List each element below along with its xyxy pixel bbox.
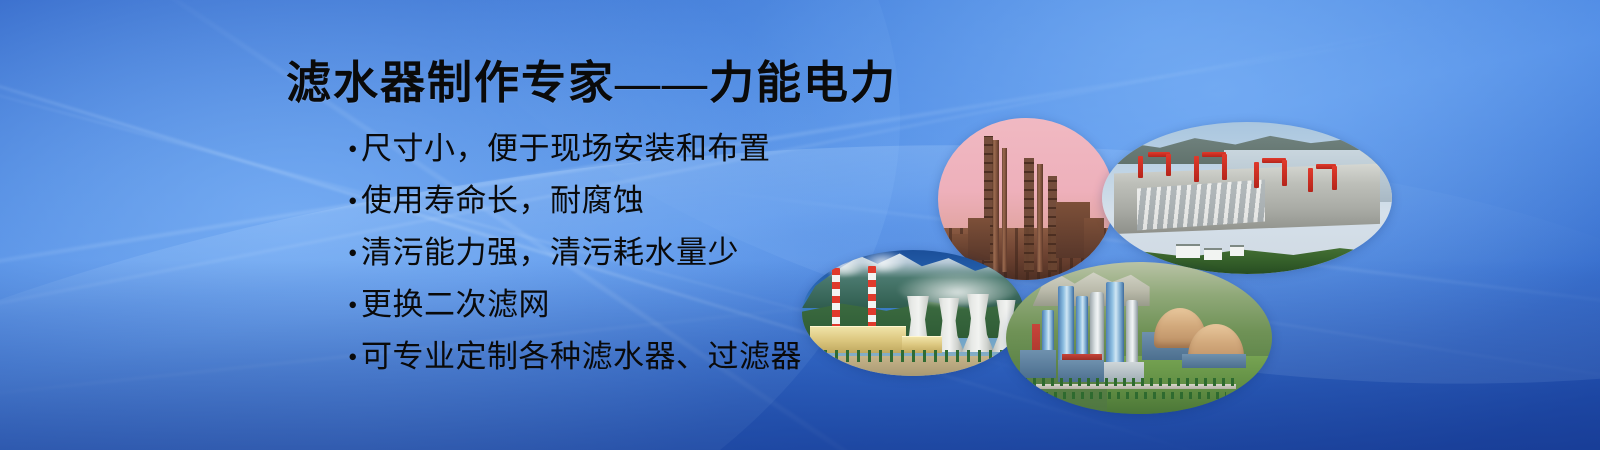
bullet-dot-icon: •	[348, 134, 361, 164]
dam-crane	[1282, 160, 1287, 186]
list-item-label: 可专业定制各种滤水器、过滤器	[361, 342, 802, 372]
cement-plant-scene	[1006, 262, 1272, 414]
dam-building	[1176, 244, 1200, 258]
chimney	[832, 268, 840, 330]
dam-crane	[1166, 154, 1171, 176]
refinery-column	[1037, 164, 1043, 272]
promo-banner: 滤水器制作专家——力能电力 • 尺寸小，便于现场安装和布置 • 使用寿命长，耐腐…	[0, 0, 1600, 450]
refinery-lattice	[1024, 158, 1034, 272]
dam-crane	[1308, 168, 1313, 192]
dam-crane	[1254, 162, 1259, 188]
bullet-dot-icon: •	[348, 290, 361, 320]
list-item-label: 使用寿命长，耐腐蚀	[361, 186, 645, 216]
dam-photo	[1102, 122, 1392, 274]
list-item-label: 更换二次滤网	[361, 290, 550, 320]
refinery-unit	[1084, 218, 1104, 262]
list-item: • 尺寸小，便于现场安装和布置	[348, 134, 968, 164]
dam-building	[1204, 248, 1222, 260]
dam-scene	[1102, 122, 1392, 274]
list-item-label: 尺寸小，便于现场安装和布置	[361, 134, 771, 164]
dam-spillway	[1137, 180, 1265, 231]
list-item: • 使用寿命长，耐腐蚀	[348, 186, 968, 216]
dam-building	[1230, 245, 1244, 256]
tree-row	[802, 350, 1024, 362]
plant-building	[810, 326, 906, 353]
smoke-plume	[822, 252, 866, 276]
bullet-dot-icon: •	[348, 186, 361, 216]
hedge-row	[1024, 378, 1238, 386]
bullet-dot-icon: •	[348, 342, 361, 372]
dam-crane	[1138, 156, 1143, 178]
dam-crane	[1194, 156, 1199, 182]
banner-title: 滤水器制作专家——力能电力	[286, 58, 897, 108]
thermal-plant-scene	[802, 250, 1024, 376]
list-item-label: 清污能力强，清污耗水量少	[361, 238, 739, 268]
cement-plant-photo	[1006, 262, 1272, 414]
dam-crane	[1332, 166, 1337, 190]
chimney	[868, 266, 876, 330]
smoke-plume	[860, 250, 906, 272]
dam-crane	[1222, 154, 1227, 180]
storage-hall	[1182, 354, 1246, 368]
thermal-plant-photo	[802, 250, 1024, 376]
plant-shed	[1020, 350, 1056, 378]
conveyor	[1062, 354, 1102, 360]
hedge-row	[1036, 392, 1226, 399]
bullet-dot-icon: •	[348, 238, 361, 268]
